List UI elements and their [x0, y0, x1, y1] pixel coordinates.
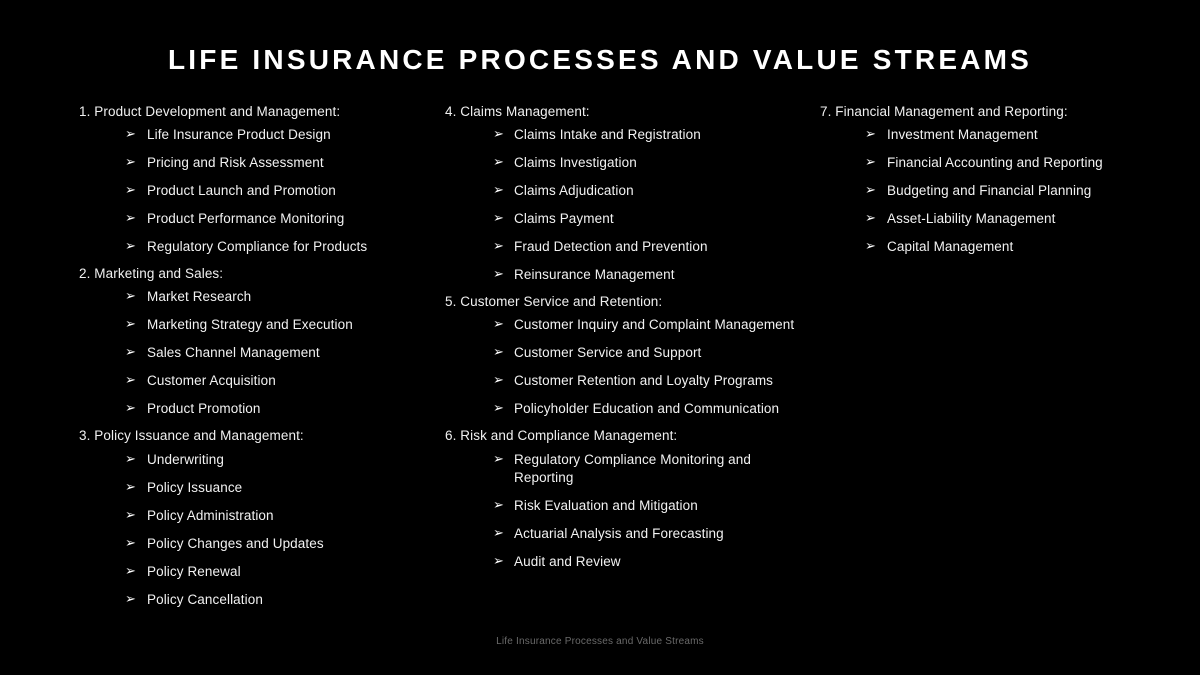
- section-heading: 3. Policy Issuance and Management:: [79, 428, 429, 450]
- list-item[interactable]: ➢Investment Management: [820, 126, 1160, 144]
- arrow-bullet-icon: ➢: [125, 238, 139, 256]
- list-item-label: Product Promotion: [147, 400, 429, 418]
- list-item-label: Policy Cancellation: [147, 591, 429, 609]
- list-item[interactable]: ➢Life Insurance Product Design: [79, 126, 429, 144]
- list-item-label: Customer Acquisition: [147, 372, 429, 390]
- arrow-bullet-icon: ➢: [493, 525, 507, 543]
- list-item[interactable]: ➢Actuarial Analysis and Forecasting: [445, 525, 810, 543]
- list-item-label: Underwriting: [147, 451, 429, 469]
- arrow-bullet-icon: ➢: [125, 563, 139, 581]
- arrow-bullet-icon: ➢: [493, 182, 507, 200]
- section-heading: 2. Marketing and Sales:: [79, 266, 429, 288]
- list-item[interactable]: ➢Customer Retention and Loyalty Programs: [445, 372, 810, 390]
- process-section: 6. Risk and Compliance Management:➢Regul…: [445, 428, 810, 570]
- list-item-label: Policy Administration: [147, 507, 429, 525]
- section-item-list: ➢Life Insurance Product Design➢Pricing a…: [79, 126, 429, 256]
- list-item[interactable]: ➢Sales Channel Management: [79, 344, 429, 362]
- section-heading: 6. Risk and Compliance Management:: [445, 428, 810, 450]
- list-item[interactable]: ➢Policy Cancellation: [79, 591, 429, 609]
- list-item-label: Customer Retention and Loyalty Programs: [514, 372, 810, 390]
- list-item-label: Audit and Review: [514, 553, 810, 571]
- list-item[interactable]: ➢Market Research: [79, 288, 429, 306]
- list-item-label: Investment Management: [887, 126, 1160, 144]
- arrow-bullet-icon: ➢: [493, 266, 507, 284]
- arrow-bullet-icon: ➢: [493, 451, 507, 469]
- section-item-list: ➢Claims Intake and Registration➢Claims I…: [445, 126, 810, 284]
- arrow-bullet-icon: ➢: [125, 126, 139, 144]
- slide-canvas: LIFE INSURANCE PROCESSES AND VALUE STREA…: [0, 0, 1200, 675]
- list-item-label: Regulatory Compliance for Products: [147, 238, 429, 256]
- arrow-bullet-icon: ➢: [865, 238, 879, 256]
- list-item[interactable]: ➢Policy Issuance: [79, 479, 429, 497]
- list-item[interactable]: ➢Marketing Strategy and Execution: [79, 316, 429, 334]
- arrow-bullet-icon: ➢: [125, 154, 139, 172]
- arrow-bullet-icon: ➢: [865, 210, 879, 228]
- list-item[interactable]: ➢Regulatory Compliance for Products: [79, 238, 429, 256]
- list-item-label: Financial Accounting and Reporting: [887, 154, 1160, 172]
- arrow-bullet-icon: ➢: [493, 126, 507, 144]
- list-item[interactable]: ➢Policyholder Education and Communicatio…: [445, 400, 810, 418]
- arrow-bullet-icon: ➢: [125, 400, 139, 418]
- list-item-label: Policyholder Education and Communication: [514, 400, 810, 418]
- list-item-label: Customer Inquiry and Complaint Managemen…: [514, 316, 810, 334]
- arrow-bullet-icon: ➢: [125, 316, 139, 334]
- section-item-list: ➢Customer Inquiry and Complaint Manageme…: [445, 316, 810, 418]
- list-item-label: Capital Management: [887, 238, 1160, 256]
- column-1: 1. Product Development and Management:➢L…: [79, 104, 429, 619]
- list-item-label: Customer Service and Support: [514, 344, 810, 362]
- footer-note: Life Insurance Processes and Value Strea…: [0, 636, 1200, 647]
- section-heading: 7. Financial Management and Reporting:: [820, 104, 1160, 126]
- list-item[interactable]: ➢Pricing and Risk Assessment: [79, 154, 429, 172]
- content-columns: 1. Product Development and Management:➢L…: [0, 104, 1200, 624]
- section-heading: 4. Claims Management:: [445, 104, 810, 126]
- list-item-label: Asset-Liability Management: [887, 210, 1160, 228]
- list-item-label: Sales Channel Management: [147, 344, 429, 362]
- arrow-bullet-icon: ➢: [493, 238, 507, 256]
- list-item[interactable]: ➢Regulatory Compliance Monitoring and Re…: [445, 451, 810, 487]
- section-heading: 5. Customer Service and Retention:: [445, 294, 810, 316]
- arrow-bullet-icon: ➢: [493, 372, 507, 390]
- arrow-bullet-icon: ➢: [493, 400, 507, 418]
- arrow-bullet-icon: ➢: [125, 288, 139, 306]
- list-item-label: Pricing and Risk Assessment: [147, 154, 429, 172]
- list-item[interactable]: ➢Claims Intake and Registration: [445, 126, 810, 144]
- arrow-bullet-icon: ➢: [125, 372, 139, 390]
- section-item-list: ➢Investment Management➢Financial Account…: [820, 126, 1160, 256]
- process-section: 5. Customer Service and Retention:➢Custo…: [445, 294, 810, 418]
- list-item-label: Regulatory Compliance Monitoring and Rep…: [514, 451, 810, 487]
- arrow-bullet-icon: ➢: [493, 553, 507, 571]
- list-item[interactable]: ➢Customer Service and Support: [445, 344, 810, 362]
- list-item-label: Life Insurance Product Design: [147, 126, 429, 144]
- list-item[interactable]: ➢Product Promotion: [79, 400, 429, 418]
- list-item[interactable]: ➢Claims Investigation: [445, 154, 810, 172]
- section-item-list: ➢Market Research➢Marketing Strategy and …: [79, 288, 429, 418]
- list-item-label: Product Launch and Promotion: [147, 182, 429, 200]
- list-item[interactable]: ➢Underwriting: [79, 451, 429, 469]
- list-item-label: Claims Payment: [514, 210, 810, 228]
- list-item[interactable]: ➢Budgeting and Financial Planning: [820, 182, 1160, 200]
- list-item[interactable]: ➢Claims Payment: [445, 210, 810, 228]
- list-item-label: Risk Evaluation and Mitigation: [514, 497, 810, 515]
- arrow-bullet-icon: ➢: [493, 210, 507, 228]
- process-section: 3. Policy Issuance and Management:➢Under…: [79, 428, 429, 608]
- list-item[interactable]: ➢Fraud Detection and Prevention: [445, 238, 810, 256]
- process-section: 4. Claims Management:➢Claims Intake and …: [445, 104, 810, 284]
- process-section: 7. Financial Management and Reporting:➢I…: [820, 104, 1160, 256]
- column-3: 7. Financial Management and Reporting:➢I…: [820, 104, 1160, 266]
- list-item-label: Budgeting and Financial Planning: [887, 182, 1160, 200]
- list-item[interactable]: ➢Product Performance Monitoring: [79, 210, 429, 228]
- list-item-label: Fraud Detection and Prevention: [514, 238, 810, 256]
- list-item[interactable]: ➢Capital Management: [820, 238, 1160, 256]
- process-section: 1. Product Development and Management:➢L…: [79, 104, 429, 256]
- arrow-bullet-icon: ➢: [493, 344, 507, 362]
- arrow-bullet-icon: ➢: [865, 154, 879, 172]
- section-item-list: ➢Regulatory Compliance Monitoring and Re…: [445, 451, 810, 571]
- arrow-bullet-icon: ➢: [493, 497, 507, 515]
- page-title: LIFE INSURANCE PROCESSES AND VALUE STREA…: [0, 44, 1200, 76]
- arrow-bullet-icon: ➢: [493, 316, 507, 334]
- list-item-label: Claims Investigation: [514, 154, 810, 172]
- arrow-bullet-icon: ➢: [125, 451, 139, 469]
- list-item-label: Policy Issuance: [147, 479, 429, 497]
- list-item-label: Marketing Strategy and Execution: [147, 316, 429, 334]
- section-heading: 1. Product Development and Management:: [79, 104, 429, 126]
- arrow-bullet-icon: ➢: [125, 507, 139, 525]
- arrow-bullet-icon: ➢: [125, 182, 139, 200]
- arrow-bullet-icon: ➢: [125, 344, 139, 362]
- section-item-list: ➢Underwriting➢Policy Issuance➢Policy Adm…: [79, 451, 429, 609]
- list-item-label: Claims Intake and Registration: [514, 126, 810, 144]
- arrow-bullet-icon: ➢: [125, 479, 139, 497]
- list-item[interactable]: ➢Policy Renewal: [79, 563, 429, 581]
- list-item-label: Market Research: [147, 288, 429, 306]
- list-item[interactable]: ➢Customer Acquisition: [79, 372, 429, 390]
- list-item[interactable]: ➢Product Launch and Promotion: [79, 182, 429, 200]
- list-item-label: Reinsurance Management: [514, 266, 810, 284]
- list-item[interactable]: ➢Asset-Liability Management: [820, 210, 1160, 228]
- list-item-label: Policy Changes and Updates: [147, 535, 429, 553]
- arrow-bullet-icon: ➢: [865, 182, 879, 200]
- process-section: 2. Marketing and Sales:➢Market Research➢…: [79, 266, 429, 418]
- list-item-label: Policy Renewal: [147, 563, 429, 581]
- list-item[interactable]: ➢Policy Changes and Updates: [79, 535, 429, 553]
- list-item[interactable]: ➢Financial Accounting and Reporting: [820, 154, 1160, 172]
- column-2: 4. Claims Management:➢Claims Intake and …: [445, 104, 810, 581]
- list-item[interactable]: ➢Risk Evaluation and Mitigation: [445, 497, 810, 515]
- list-item[interactable]: ➢Customer Inquiry and Complaint Manageme…: [445, 316, 810, 334]
- list-item[interactable]: ➢Audit and Review: [445, 553, 810, 571]
- arrow-bullet-icon: ➢: [865, 126, 879, 144]
- list-item[interactable]: ➢Reinsurance Management: [445, 266, 810, 284]
- arrow-bullet-icon: ➢: [125, 210, 139, 228]
- arrow-bullet-icon: ➢: [125, 591, 139, 609]
- list-item[interactable]: ➢Policy Administration: [79, 507, 429, 525]
- list-item[interactable]: ➢Claims Adjudication: [445, 182, 810, 200]
- arrow-bullet-icon: ➢: [493, 154, 507, 172]
- list-item-label: Product Performance Monitoring: [147, 210, 429, 228]
- list-item-label: Claims Adjudication: [514, 182, 810, 200]
- list-item-label: Actuarial Analysis and Forecasting: [514, 525, 810, 543]
- arrow-bullet-icon: ➢: [125, 535, 139, 553]
